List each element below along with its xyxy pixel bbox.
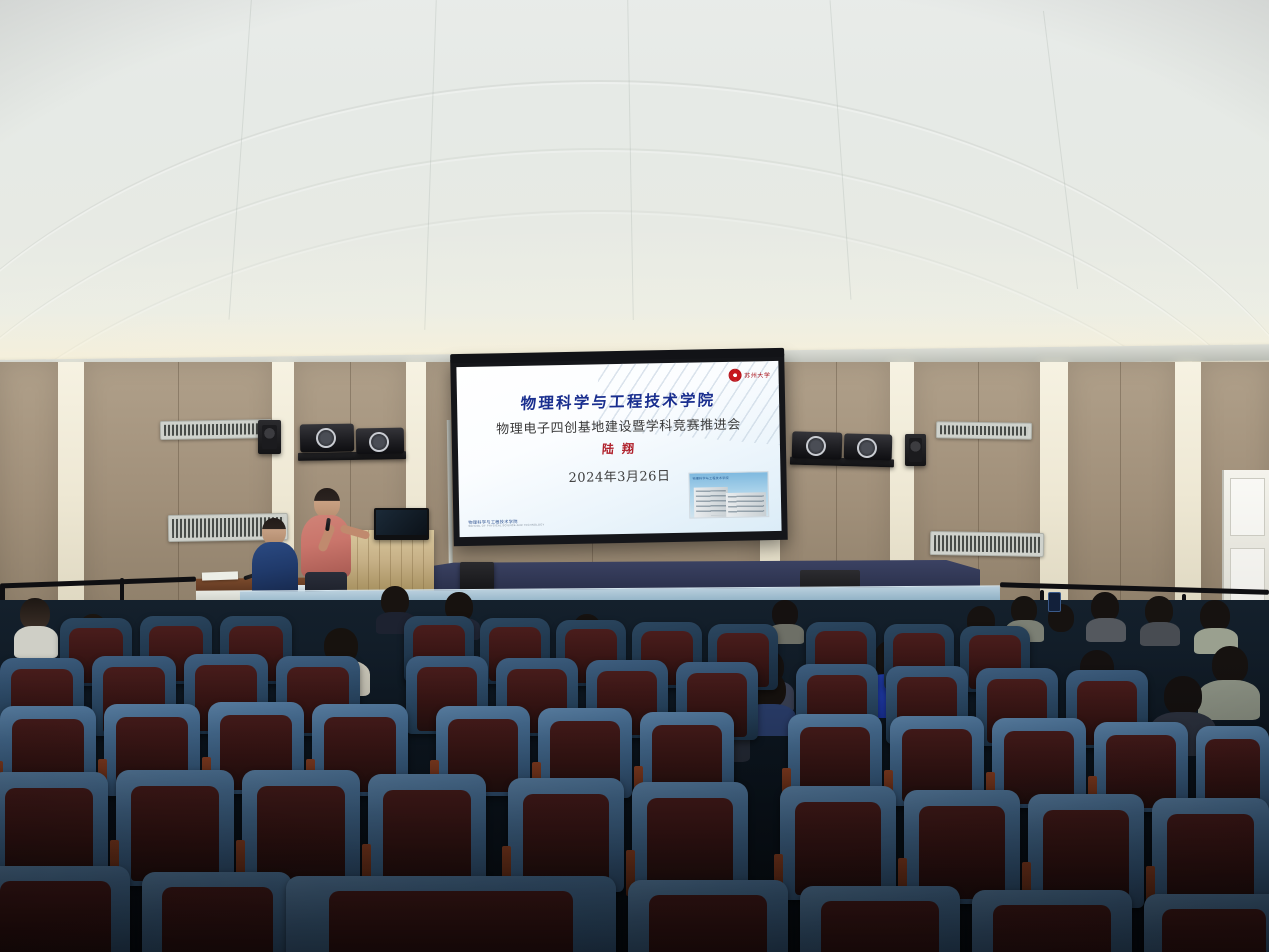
seat-backrest	[821, 901, 939, 952]
audience-torso	[14, 626, 58, 658]
building-block	[726, 492, 766, 517]
panel-seam	[1120, 362, 1121, 622]
audience-member	[14, 598, 58, 656]
auditorium-seat[interactable]	[780, 786, 896, 900]
seat-backrest	[1162, 909, 1266, 952]
slide-presenter-name: 陆 翔	[457, 437, 780, 460]
projector-left-2	[356, 428, 404, 455]
slide-university-logo: 苏州大学	[728, 368, 771, 382]
acoustic-panel	[1068, 362, 1175, 622]
host-torso	[252, 542, 298, 596]
smartphone-icon	[1048, 592, 1061, 612]
auditorium-seat[interactable]	[368, 774, 486, 890]
university-name: 苏州大学	[744, 370, 771, 380]
seated-host	[252, 518, 300, 594]
audience-phone-recorder	[1044, 598, 1080, 640]
audience-member	[1194, 600, 1238, 650]
hvac-vent-upper-left	[160, 419, 272, 440]
audience-torso	[1140, 622, 1180, 646]
slide-footer-en: SCHOOL OF PHYSICAL SCIENCE AND TECHNOLOG…	[468, 523, 544, 528]
seat-backrest	[647, 798, 733, 892]
slide-building-photo: 物理科学与工程技术学院	[688, 471, 769, 519]
audience-head	[1164, 676, 1202, 716]
auditorium-seat[interactable]	[800, 886, 960, 952]
slide-footer: 物理科学与工程技术学院 SCHOOL OF PHYSICAL SCIENCE A…	[468, 518, 544, 528]
wall-speaker-right	[905, 434, 926, 466]
seat-backrest	[257, 786, 344, 881]
auditorium-seat[interactable]	[1144, 894, 1269, 952]
audience-member	[1140, 596, 1180, 642]
auditorium-seat[interactable]	[242, 770, 360, 886]
audience-member	[1086, 592, 1126, 638]
audience-torso	[1086, 618, 1126, 642]
auditorium-seat[interactable]	[972, 890, 1132, 952]
seat-backrest	[649, 895, 767, 952]
seat-backrest	[383, 790, 470, 885]
confidence-monitor	[374, 508, 429, 540]
auditorium-seat[interactable]	[632, 782, 748, 896]
host-head	[262, 518, 286, 545]
auditorium-photo: 苏州大学 物理科学与工程技术学院 物理电子四创基地建设暨学科竞赛推进会 陆 翔 …	[0, 0, 1269, 952]
standing-presenter	[296, 488, 356, 606]
auditorium-seat[interactable]	[142, 872, 292, 952]
seat-backrest	[523, 794, 609, 888]
auditorium-seat[interactable]	[628, 880, 788, 952]
seat-backrest	[993, 905, 1111, 952]
slide-photo-caption: 物理科学与工程技术学院	[693, 476, 729, 481]
audience-head	[1212, 646, 1248, 684]
hvac-vent-lower-right	[930, 531, 1044, 557]
desk-papers	[202, 571, 238, 580]
auditorium-seat[interactable]	[508, 778, 624, 892]
door-panel	[1230, 478, 1265, 536]
door-panel	[1230, 548, 1265, 606]
seat-backrest	[131, 786, 218, 881]
presenter-head	[314, 488, 340, 518]
auditorium-seat[interactable]	[116, 770, 234, 886]
projector-right-1	[792, 431, 843, 459]
projector-lens-icon	[806, 436, 827, 457]
projector-lens-icon	[316, 428, 336, 448]
panel-seam	[178, 362, 179, 622]
seat-backrest	[162, 887, 273, 952]
building-block	[694, 487, 729, 518]
wall-pilaster	[1175, 362, 1201, 622]
wall-speaker-left	[258, 420, 281, 454]
projector-lens-icon	[369, 432, 389, 452]
hvac-vent-upper-right	[936, 421, 1032, 440]
projector-left-1	[300, 424, 354, 453]
auditorium-seat[interactable]	[0, 866, 130, 952]
seat-backrest	[329, 891, 573, 952]
projection-screen[interactable]: 苏州大学 物理科学与工程技术学院 物理电子四创基地建设暨学科竞赛推进会 陆 翔 …	[450, 354, 788, 546]
presentation-slide: 苏州大学 物理科学与工程技术学院 物理电子四创基地建设暨学科竞赛推进会 陆 翔 …	[456, 361, 781, 537]
projector-right-2	[844, 433, 893, 460]
seat-backrest	[0, 881, 111, 952]
projector-lens-icon	[857, 438, 878, 459]
auditorium-seat-wide[interactable]	[286, 876, 616, 952]
seat-backrest	[795, 802, 881, 896]
university-emblem-icon	[728, 369, 741, 382]
